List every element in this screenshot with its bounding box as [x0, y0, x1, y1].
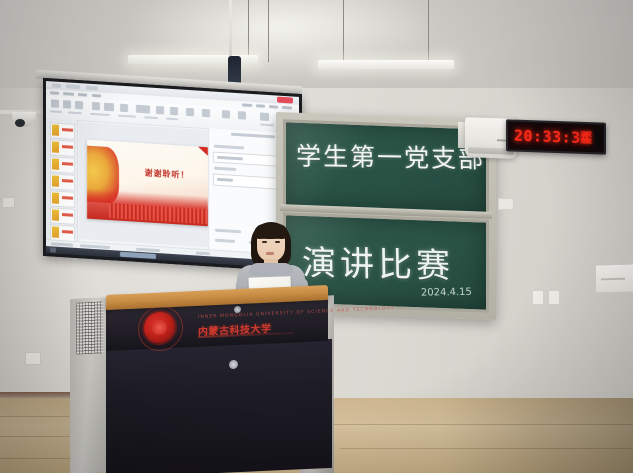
- led-clock-display: 20:33:34 温度 湿度: [506, 119, 606, 154]
- slide-thumbnail[interactable]: [50, 173, 75, 191]
- taskbar-start-icon[interactable]: [50, 247, 56, 252]
- wall-sign-plaque: [595, 263, 633, 293]
- pane-title: [231, 133, 275, 139]
- camera-lens-icon: [15, 119, 25, 127]
- wall-socket: [25, 352, 41, 365]
- ppt-menu-item[interactable]: [256, 104, 265, 108]
- ribbon-icon[interactable]: [156, 106, 164, 115]
- clock-secondary-readout: 温度 湿度: [573, 129, 599, 147]
- slide-thumbnail[interactable]: [50, 207, 75, 225]
- eyebrow-left: [261, 238, 267, 239]
- ceiling-light-glow: [120, 0, 440, 82]
- ppt-signin-button[interactable]: [277, 97, 293, 104]
- ribbon-icon[interactable]: [186, 108, 194, 117]
- classroom-photo: 谢谢聆听！: [0, 0, 633, 473]
- light-wire-3: [343, 0, 344, 66]
- ppt-quickaccess-icon[interactable]: [66, 84, 80, 89]
- ppt-menu-item[interactable]: [78, 93, 87, 97]
- pane-footer-label: [215, 239, 235, 243]
- slide-thumbnail[interactable]: [50, 156, 75, 174]
- eye-left: [262, 241, 267, 243]
- slide-thumbnail[interactable]: [50, 139, 75, 157]
- ribbon-icon[interactable]: [63, 100, 71, 109]
- lectern-body: [106, 339, 332, 473]
- ribbon-label: [260, 124, 274, 127]
- ribbon-label: [166, 118, 178, 121]
- wall-plate-left: [2, 197, 15, 208]
- ppt-menu-item[interactable]: [242, 103, 252, 107]
- clock-sub-line-2: 湿度: [580, 137, 592, 144]
- pane-label: [214, 145, 244, 150]
- ppt-slide-thumbnails-panel[interactable]: [46, 118, 78, 242]
- ribbon-icon[interactable]: [170, 107, 178, 116]
- ppt-menu-item[interactable]: [282, 106, 292, 110]
- pane-label: [214, 167, 236, 171]
- ppt-quickaccess-icon[interactable]: [52, 83, 61, 88]
- ribbon-icon[interactable]: [260, 113, 269, 122]
- ribbon-icon[interactable]: [92, 102, 100, 111]
- light-wire-1: [248, 0, 249, 60]
- blackboard-subtitle-text: 演讲比赛: [302, 235, 483, 287]
- ribbon-label: [144, 116, 158, 119]
- blackboard-title-text: 学生第一党支部: [296, 137, 482, 176]
- ppt-menu-item[interactable]: [63, 92, 74, 96]
- ribbon-icon[interactable]: [51, 99, 59, 108]
- hood-collar: [249, 263, 293, 276]
- ribbon-label: [90, 113, 110, 116]
- lectern-speaker-grille-left: [76, 301, 103, 354]
- ribbon-icon[interactable]: [202, 109, 210, 118]
- mouth: [266, 252, 274, 255]
- lectern: INNER MONGOLIA UNIVERSITY OF SCIENCE AND…: [64, 290, 330, 473]
- ribbon-icon[interactable]: [238, 111, 246, 120]
- ribbon-label: [50, 110, 62, 113]
- ppt-slide-stage: 谢谢聆听！: [79, 122, 208, 247]
- light-switch[interactable]: [532, 290, 544, 305]
- slide-thumbnail[interactable]: [50, 122, 75, 140]
- wall-plate-upper: [498, 198, 514, 210]
- ribbon-icon[interactable]: [75, 101, 83, 110]
- light-wire-4: [428, 0, 429, 68]
- slide-thumbnail[interactable]: [50, 190, 75, 208]
- ribbon-icon[interactable]: [120, 104, 128, 113]
- ppt-menu-item[interactable]: [269, 105, 278, 109]
- ribbon-label: [68, 111, 82, 114]
- ceiling-light-2: [318, 60, 454, 69]
- light-wire-2: [268, 0, 269, 62]
- current-slide[interactable]: 谢谢聆听！: [87, 140, 228, 228]
- ppt-menu-item[interactable]: [50, 91, 59, 95]
- ribbon-icon[interactable]: [222, 110, 230, 119]
- eyebrow-right: [274, 238, 280, 239]
- ribbon-icon[interactable]: [136, 105, 150, 114]
- ribbon-icon[interactable]: [104, 103, 114, 112]
- slide-title-text: 谢谢聆听！: [131, 166, 203, 182]
- ppt-menu-item[interactable]: [92, 94, 101, 98]
- eye-right: [275, 241, 280, 243]
- blackboard-date-text: 2024.4.15: [421, 287, 472, 299]
- taskbar-app-item[interactable]: [120, 252, 156, 259]
- ppt-quickaccess-icon[interactable]: [86, 86, 98, 91]
- hair-fringe: [254, 224, 288, 239]
- ribbon-label: [118, 115, 136, 118]
- light-switch[interactable]: [548, 290, 560, 305]
